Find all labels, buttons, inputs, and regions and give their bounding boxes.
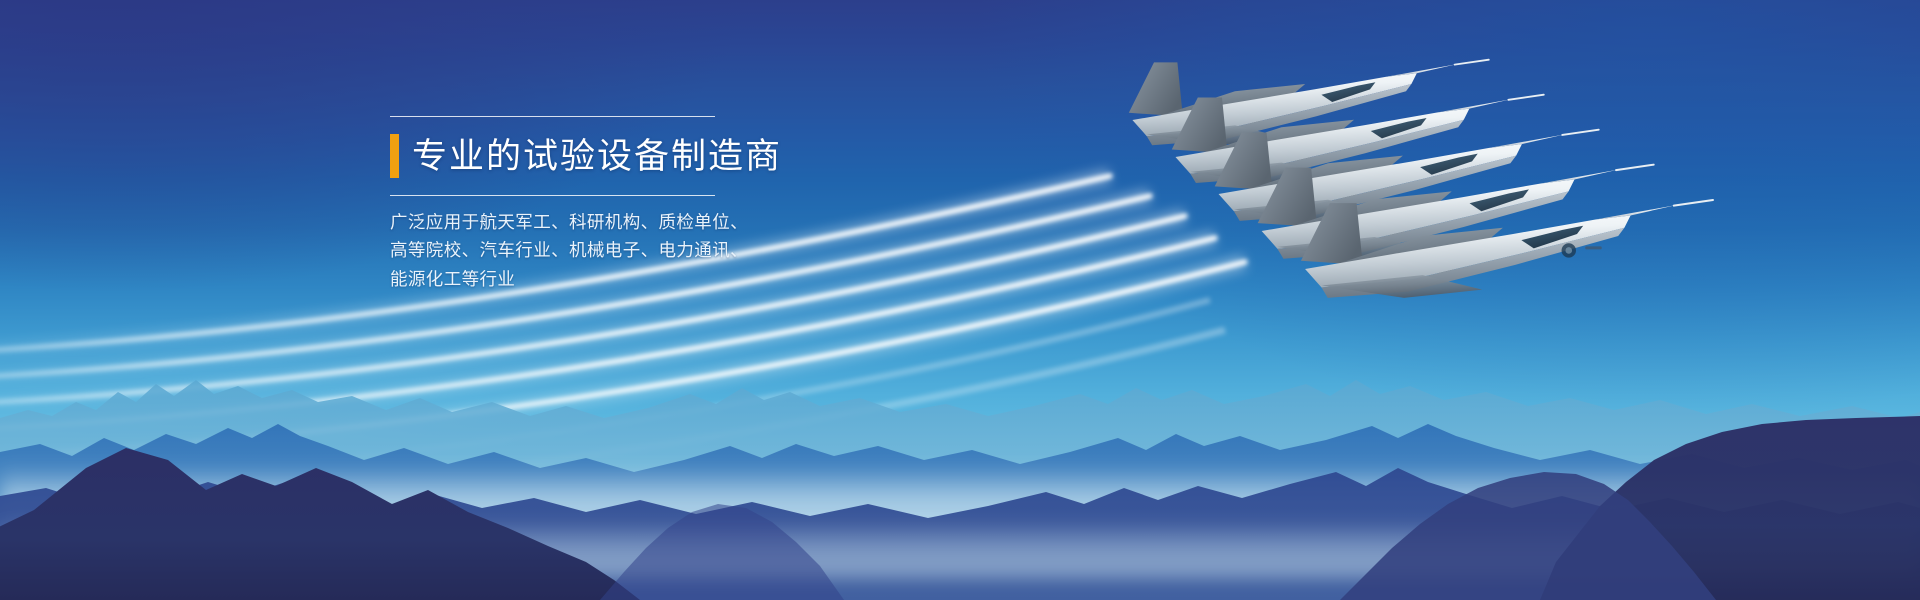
headline-row: 专业的试验设备制造商 — [390, 126, 860, 186]
orange-accent-bar — [390, 134, 399, 178]
headline-rule-top — [390, 116, 715, 117]
headline-rule-bottom — [390, 195, 715, 196]
banner-copy-block: 专业的试验设备制造商 广泛应用于航天军工、科研机构、质检单位、 高等院校、汽车行… — [390, 116, 860, 293]
banner-subtitle: 广泛应用于航天军工、科研机构、质检单位、 高等院校、汽车行业、机械电子、电力通讯… — [390, 208, 860, 293]
page-title: 专业的试验设备制造商 — [412, 139, 782, 174]
subtitle-line-2: 高等院校、汽车行业、机械电子、电力通讯、 — [390, 236, 860, 264]
hero-banner: 专业的试验设备制造商 广泛应用于航天军工、科研机构、质检单位、 高等院校、汽车行… — [0, 0, 1920, 600]
sky-gradient-background — [0, 0, 1920, 600]
subtitle-line-1: 广泛应用于航天军工、科研机构、质检单位、 — [390, 208, 860, 236]
subtitle-line-3: 能源化工等行业 — [390, 265, 860, 293]
